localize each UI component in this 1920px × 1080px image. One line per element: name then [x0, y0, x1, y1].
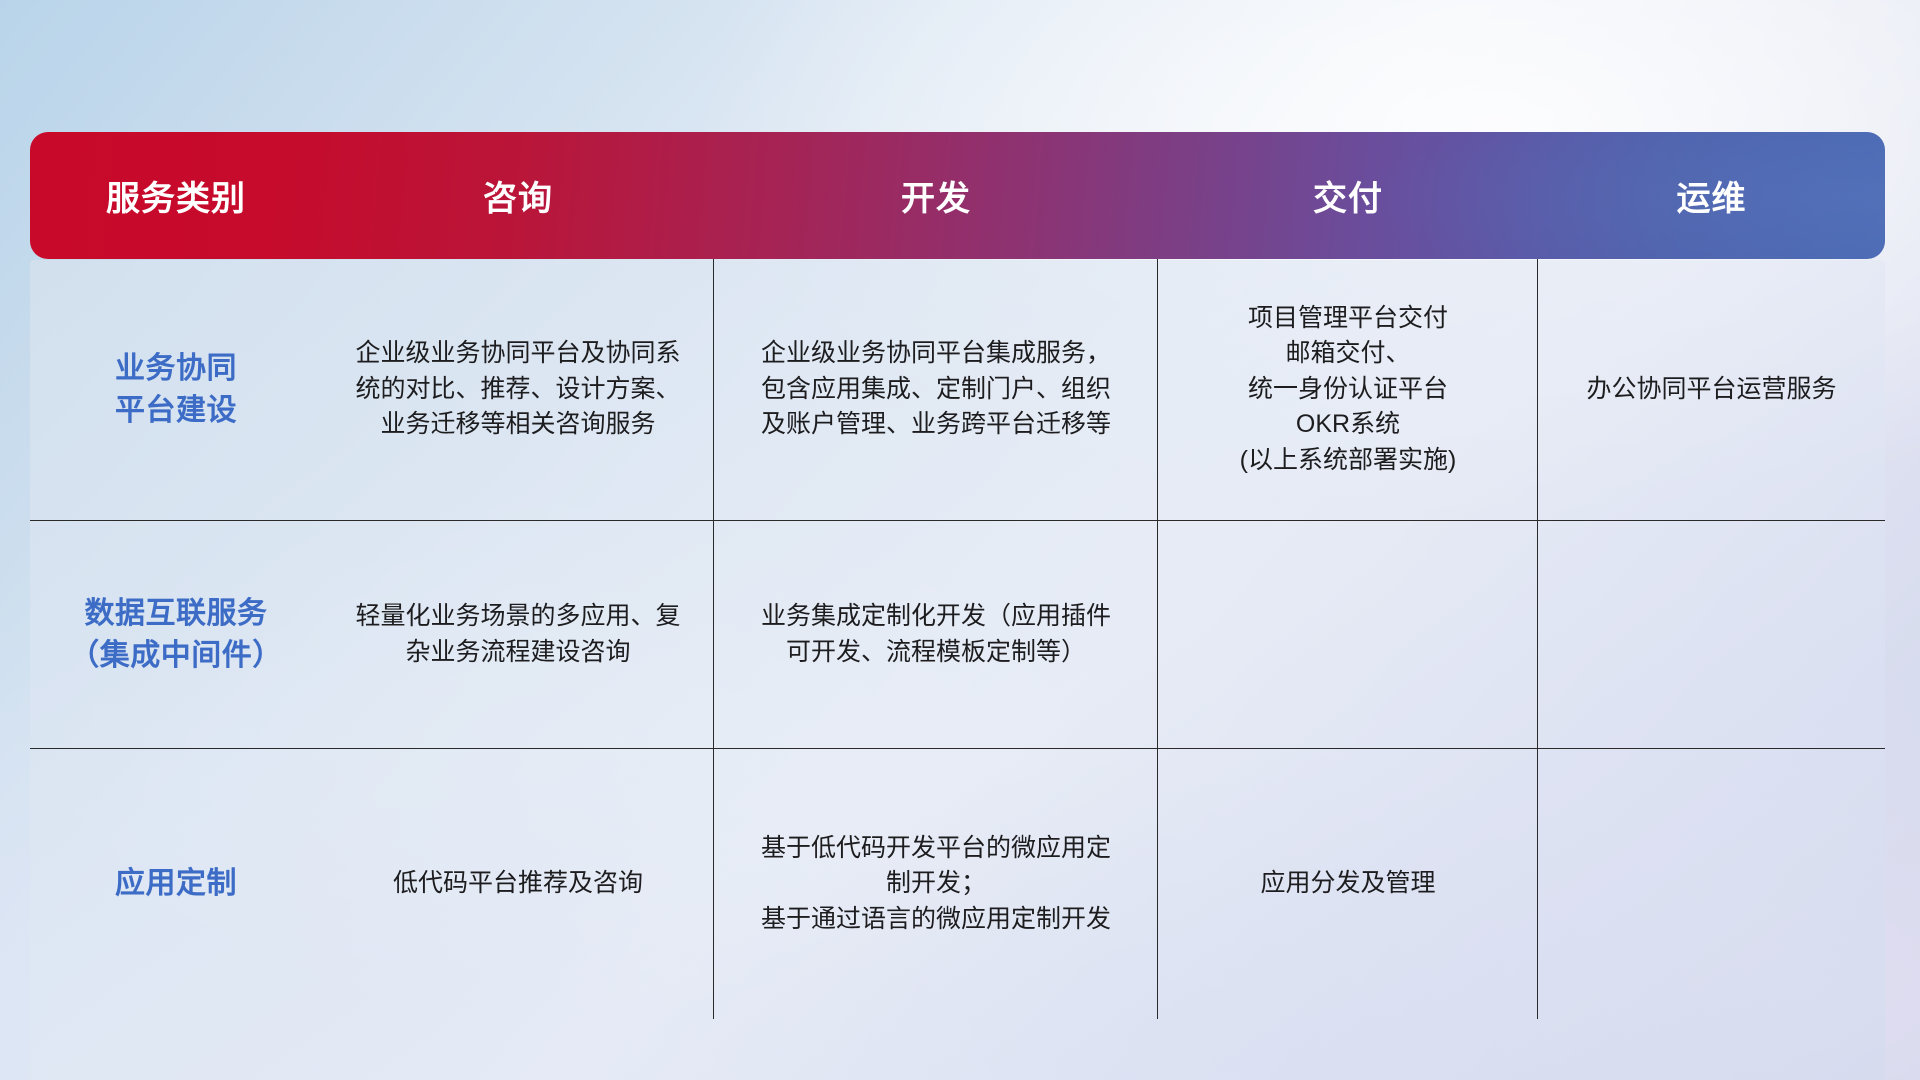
- cell-delivery: [1158, 521, 1538, 748]
- cell-development: 业务集成定制化开发（应用插件 可开发、流程模板定制等）: [714, 521, 1158, 748]
- cell-development: 基于低代码开发平台的微应用定 制开发； 基于通过语言的微应用定制开发: [714, 749, 1158, 1019]
- cell-delivery: 项目管理平台交付 邮箱交付、 统一身份认证平台 OKR系统 (以上系统部署实施): [1158, 259, 1538, 520]
- header-consulting: 咨询: [322, 171, 714, 220]
- header-service-category: 服务类别: [30, 171, 322, 220]
- header-development: 开发: [714, 171, 1158, 220]
- service-matrix-table: 服务类别 咨询 开发 交付 运维 业务协同 平台建设 企业级业务协同平台及协同系…: [30, 132, 1885, 964]
- cell-operations: 办公协同平台运营服务: [1538, 259, 1885, 520]
- table-row: 数据互联服务 （集成中间件） 轻量化业务场景的多应用、复 杂业务流程建设咨询 业…: [30, 521, 1885, 749]
- cell-consulting: 低代码平台推荐及咨询: [322, 749, 714, 1019]
- row-label-cell: 业务协同 平台建设: [30, 259, 322, 520]
- cell-consulting: 企业级业务协同平台及协同系 统的对比、推荐、设计方案、 业务迁移等相关咨询服务: [322, 259, 714, 520]
- cell-consulting: 轻量化业务场景的多应用、复 杂业务流程建设咨询: [322, 521, 714, 748]
- cell-operations: [1538, 521, 1885, 748]
- header-delivery: 交付: [1158, 171, 1538, 220]
- row-label-cell: 应用定制: [30, 749, 322, 1019]
- table-header-row: 服务类别 咨询 开发 交付 运维: [30, 132, 1885, 259]
- cell-delivery: 应用分发及管理: [1158, 749, 1538, 1019]
- cell-operations: [1538, 749, 1885, 1019]
- header-operations: 运维: [1538, 171, 1885, 220]
- table-row: 业务协同 平台建设 企业级业务协同平台及协同系 统的对比、推荐、设计方案、 业务…: [30, 259, 1885, 521]
- row-label-cell: 数据互联服务 （集成中间件）: [30, 521, 322, 748]
- row-label-text: 数据互联服务 （集成中间件）: [69, 593, 283, 676]
- row-label-text: 应用定制: [115, 863, 237, 904]
- cell-development: 企业级业务协同平台集成服务， 包含应用集成、定制门户、组织 及账户管理、业务跨平…: [714, 259, 1158, 520]
- table-row: 应用定制 低代码平台推荐及咨询 基于低代码开发平台的微应用定 制开发； 基于通过…: [30, 749, 1885, 1019]
- row-label-text: 业务协同 平台建设: [115, 348, 237, 431]
- table-body: 业务协同 平台建设 企业级业务协同平台及协同系 统的对比、推荐、设计方案、 业务…: [30, 259, 1885, 1019]
